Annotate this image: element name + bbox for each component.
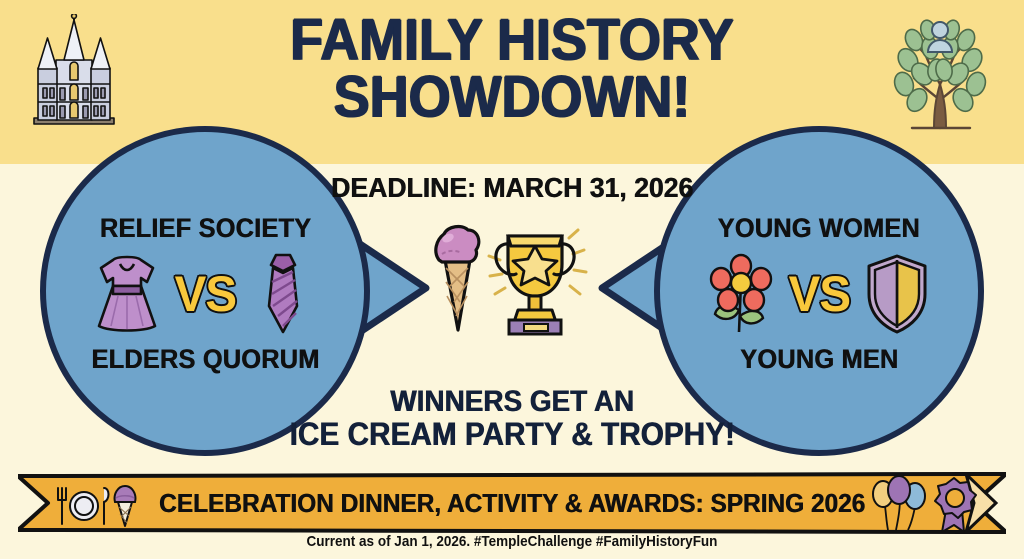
- deadline-text: DEADLINE: MARCH 31, 2026: [322, 172, 702, 204]
- vs-label-right: VS: [788, 265, 849, 323]
- winners-line-2: ICE CREAM PARTY & TROPHY!: [280, 418, 745, 452]
- dress-icon: [91, 252, 163, 336]
- family-tree-icon: [884, 14, 996, 132]
- trophy-icon: [489, 230, 586, 334]
- vs-label-left: VS: [174, 265, 235, 323]
- team-name-young-women: YOUNG WOMEN: [718, 213, 920, 244]
- team-name-young-men: YOUNG MEN: [740, 344, 898, 375]
- footnote-text: Current as of Jan 1, 2026. #TempleChalle…: [51, 533, 973, 550]
- shield-icon: [861, 252, 933, 336]
- temple-icon: [26, 14, 122, 132]
- ice-cream-cone-icon: [436, 227, 479, 330]
- poster-canvas: FAMILY HISTORY SHOWDOWN!: [0, 0, 1024, 559]
- balloons-icon: [873, 476, 925, 530]
- flower-icon: [705, 252, 777, 336]
- title-line-2: SHOWDOWN!: [36, 69, 988, 126]
- award-ribbon-icon: [935, 478, 976, 532]
- team-name-elders-quorum: ELDERS QUORUM: [91, 344, 319, 375]
- team-name-relief-society: RELIEF SOCIETY: [99, 213, 310, 244]
- dinner-plate-icon: [52, 480, 140, 528]
- left-matchup-row: VS: [91, 249, 320, 339]
- ribbon-text: CELEBRATION DINNER, ACTIVITY & AWARDS: S…: [172, 482, 853, 524]
- ribbon-ice-cream-icon: [115, 486, 136, 526]
- winners-text: WINNERS GET AN ICE CREAM PARTY & TROPHY!: [280, 386, 745, 451]
- center-prize-icons: [412, 214, 612, 338]
- page-title: FAMILY HISTORY SHOWDOWN!: [36, 12, 988, 126]
- celebration-icons: [872, 476, 988, 532]
- title-line-1: FAMILY HISTORY: [290, 7, 734, 72]
- necktie-icon: [247, 252, 319, 336]
- winners-line-1: WINNERS GET AN: [390, 385, 634, 418]
- right-matchup-row: VS: [705, 249, 934, 339]
